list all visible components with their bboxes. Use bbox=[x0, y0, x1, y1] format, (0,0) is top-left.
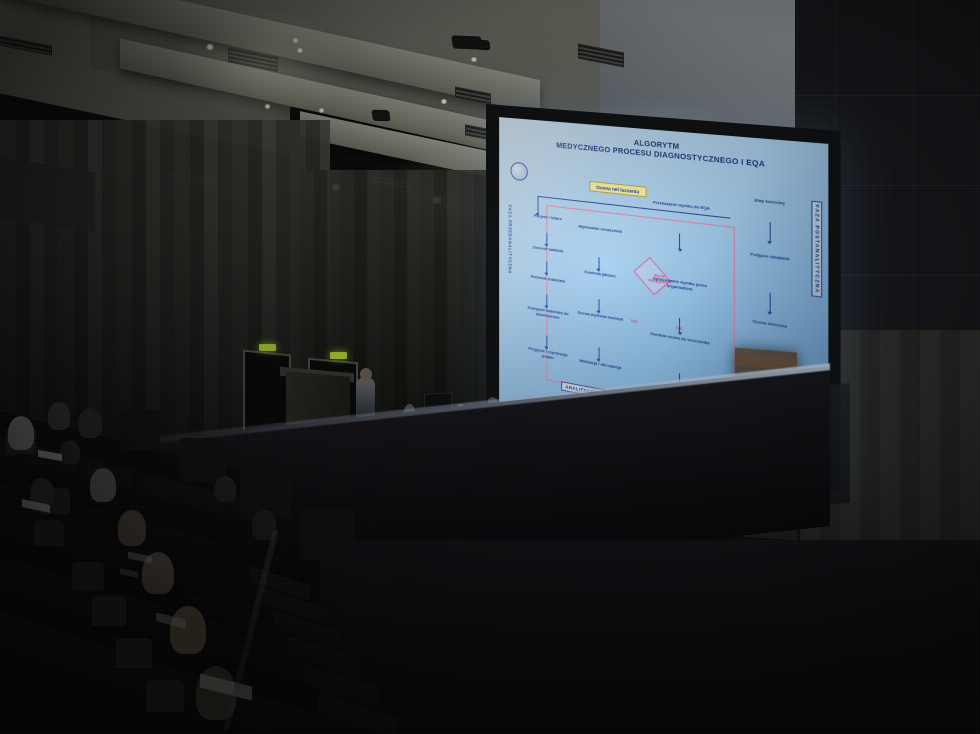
flow-node-f1: Etap końcowy bbox=[741, 197, 798, 209]
spotlight-fixture-3 bbox=[475, 40, 490, 51]
flow-decision-yes: TAK bbox=[630, 319, 638, 324]
flow-node-f3: Ocena kliniczna bbox=[741, 318, 798, 332]
flow-node-l1: Pacjent / lekarz bbox=[525, 212, 570, 222]
flow-node-l3: Pobranie materiału bbox=[525, 273, 570, 285]
flow-arrow-f1 bbox=[770, 222, 771, 241]
flow-arrow-r2 bbox=[680, 318, 681, 334]
flow-node-m2: Kontrola jakości bbox=[577, 269, 624, 281]
attendee-2 bbox=[48, 402, 70, 430]
flow-arrow-f2 bbox=[770, 293, 771, 312]
flow-node-m1: Wykonanie oznaczenia bbox=[577, 224, 624, 235]
downlight-5 bbox=[318, 108, 325, 113]
flow-arrow-l1 bbox=[546, 232, 547, 244]
exit-sign-icon-left bbox=[259, 344, 276, 351]
seat-dark-1 bbox=[120, 410, 160, 450]
slide-highlight-box: Ocena nel laczenia bbox=[589, 181, 646, 198]
attendee-3 bbox=[78, 408, 102, 438]
flow-node-l2: Zlecenie badania bbox=[525, 244, 570, 255]
flow-node-l4: Transport materiału do laboratorium bbox=[522, 305, 573, 323]
exit-sign-icon-right bbox=[330, 352, 347, 359]
seat-dark-2 bbox=[180, 438, 226, 482]
flow-node-f2: Podjęcie działania bbox=[741, 251, 798, 264]
attendee-6 bbox=[118, 510, 146, 546]
seat-dark-4 bbox=[300, 510, 354, 560]
attendee-1 bbox=[8, 416, 34, 450]
seat-back-6 bbox=[116, 638, 152, 668]
slide-left-phase-label: FAZA PRZEDANALITYCZNA bbox=[508, 204, 513, 274]
flow-arrow-l4 bbox=[546, 335, 547, 347]
downlight-4 bbox=[264, 104, 271, 109]
flow-node-r2: Opracowanie wyniku przez organizatora bbox=[650, 276, 710, 295]
flow-arrow-m3 bbox=[598, 347, 599, 359]
flow-arrow-down-main bbox=[537, 196, 538, 214]
downlight-1 bbox=[205, 44, 215, 50]
slide-right-phase-label: FAZA POSTANALITYCZNA bbox=[812, 201, 823, 298]
seat-dark-5 bbox=[340, 560, 398, 614]
attendee-12 bbox=[214, 476, 236, 502]
flow-arrow-m2 bbox=[598, 299, 599, 311]
attendee-4 bbox=[90, 468, 116, 502]
flow-arrow-l3 bbox=[546, 294, 547, 306]
slide-title: ALGORYTM MEDYCZNEGO PROCESU DIAGNOSTYCZN… bbox=[522, 128, 806, 174]
flow-arrow-l2 bbox=[546, 262, 547, 274]
flow-arrow-m1 bbox=[598, 257, 599, 269]
downlight-3 bbox=[296, 48, 304, 53]
downlight-2 bbox=[292, 38, 299, 43]
flow-node-l5: Przyjęcie i rejestracja próbki bbox=[522, 346, 573, 365]
attendee-8 bbox=[170, 606, 206, 654]
slide-logo-icon bbox=[511, 161, 528, 181]
downlight-6 bbox=[440, 99, 448, 104]
downlight-7 bbox=[470, 57, 478, 62]
seat-back-3 bbox=[34, 520, 64, 546]
flow-arrow-r1 bbox=[680, 234, 681, 250]
seat-back-4 bbox=[72, 562, 104, 590]
spotlight-fixture-2 bbox=[371, 110, 390, 122]
audience-seating bbox=[0, 380, 470, 734]
attendee-10 bbox=[60, 440, 80, 464]
lecture-hall-scene: ALGORYTM MEDYCZNEGO PROCESU DIAGNOSTYCZN… bbox=[0, 0, 980, 734]
seat-back-5 bbox=[92, 596, 126, 626]
seat-back-7 bbox=[146, 680, 184, 712]
